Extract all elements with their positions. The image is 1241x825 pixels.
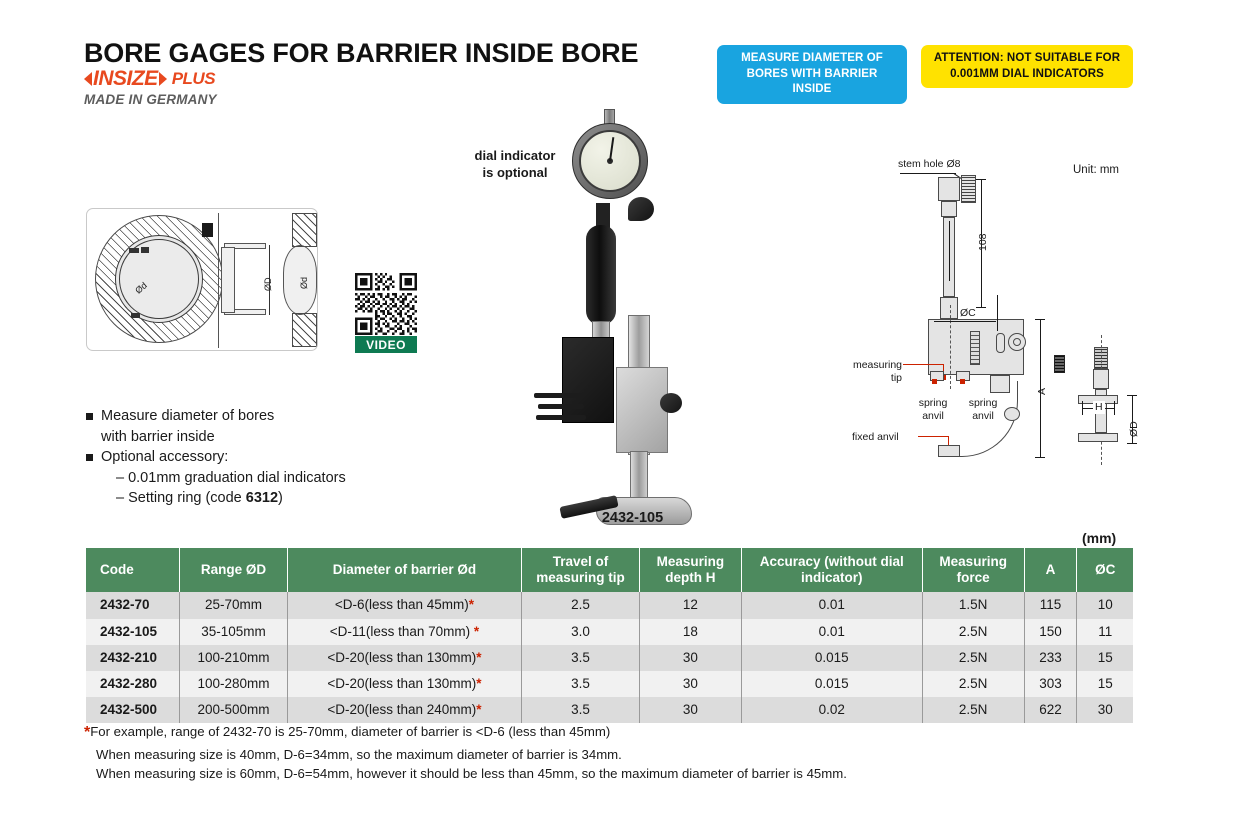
dim-od-tick-bottom bbox=[1127, 443, 1137, 444]
cell-force: 2.5N bbox=[922, 697, 1024, 723]
cell-code: 2432-105 bbox=[86, 619, 180, 645]
schematic-label-od-right: Ød bbox=[299, 277, 309, 289]
technical-drawing: stem hole Ø8 108 ØC measuring tip bbox=[850, 155, 1195, 475]
dim-h-tick-right bbox=[1114, 401, 1115, 415]
dial-face bbox=[579, 130, 641, 192]
dark-marker bbox=[202, 223, 213, 237]
asterisk-icon: * bbox=[476, 676, 481, 691]
col-a: A bbox=[1024, 548, 1077, 592]
gage-prongs bbox=[534, 391, 586, 425]
cell-barrier-text: <D-6(less than 45mm) bbox=[335, 597, 469, 612]
datasheet-page: BORE GAGES FOR BARRIER INSIDE BORE INSIZ… bbox=[0, 0, 1241, 825]
cell-barrier: <D-20(less than 130mm)* bbox=[287, 671, 521, 697]
col-accuracy: Accuracy (without dial indicator) bbox=[741, 548, 922, 592]
cell-a: 115 bbox=[1024, 592, 1077, 618]
dim-h-tick-left bbox=[1082, 401, 1083, 415]
cell-accuracy: 0.015 bbox=[741, 645, 922, 671]
stem-collar bbox=[941, 201, 957, 217]
cell-travel: 2.5 bbox=[521, 592, 639, 618]
cell-force: 2.5N bbox=[922, 671, 1024, 697]
cell-a: 622 bbox=[1024, 697, 1077, 723]
cell-accuracy: 0.01 bbox=[741, 592, 922, 618]
dial-indicator bbox=[572, 123, 648, 199]
dim-oc-label: ØC bbox=[960, 307, 976, 320]
arrow-left-icon bbox=[84, 72, 92, 86]
made-in-label: MADE IN GERMANY bbox=[84, 92, 217, 107]
bullet-text: Measure diameter of bores with barrier i… bbox=[101, 406, 274, 447]
stem-centerline bbox=[949, 221, 950, 281]
schematic-label-OD: ØD bbox=[263, 278, 273, 292]
asterisk-icon: * bbox=[474, 624, 479, 639]
cell-barrier-text: <D-20(less than 240mm) bbox=[327, 702, 476, 717]
cell-barrier-text: <D-11(less than 70mm) bbox=[330, 624, 470, 639]
bullet-line-1: Optional accessory: bbox=[101, 449, 228, 465]
arrow-right-icon bbox=[159, 72, 167, 86]
bullet-text: Optional accessory: – 0.01mm graduation … bbox=[101, 447, 346, 509]
col-code: Code bbox=[86, 548, 180, 592]
cell-code: 2432-500 bbox=[86, 697, 180, 723]
cell-barrier: <D-6(less than 45mm)* bbox=[287, 592, 521, 618]
bullet-sub-2: – Setting ring (code 6312) bbox=[101, 490, 283, 506]
cell-travel: 3.0 bbox=[521, 619, 639, 645]
dark-knurl-part bbox=[1054, 355, 1065, 373]
cell-range: 35-105mm bbox=[180, 619, 288, 645]
dim-h-label: H bbox=[1093, 401, 1105, 414]
tip-mark-2 bbox=[141, 247, 149, 253]
cell-oc: 10 bbox=[1077, 592, 1133, 618]
bullet-square-icon bbox=[86, 413, 93, 420]
footnote-line-1-text: For example, range of 2432-70 is 25-70mm… bbox=[90, 724, 610, 739]
cell-code: 2432-280 bbox=[86, 671, 180, 697]
cell-a: 150 bbox=[1024, 619, 1077, 645]
prong-3 bbox=[536, 415, 586, 420]
brand-name: INSIZE bbox=[93, 68, 158, 89]
tip-mark-3 bbox=[131, 313, 140, 318]
table-row: 2432-500 200-500mm <D-20(less than 240mm… bbox=[86, 697, 1133, 723]
col-force: Measuring force bbox=[922, 548, 1024, 592]
section-divider bbox=[218, 213, 219, 348]
side-view-arm-bottom bbox=[1078, 433, 1118, 442]
dim-oc-line bbox=[997, 295, 998, 331]
feature-list: Measure diameter of bores with barrier i… bbox=[86, 406, 466, 509]
table-head: Code Range ØD Diameter of barrier Ød Tra… bbox=[86, 548, 1133, 592]
cell-travel: 3.5 bbox=[521, 697, 639, 723]
cell-barrier-text: <D-20(less than 130mm) bbox=[327, 676, 476, 691]
dim-od-tick-top bbox=[1127, 395, 1137, 396]
stand-clamp-knob bbox=[660, 393, 682, 413]
cell-barrier-text: <D-20(less than 130mm) bbox=[327, 650, 476, 665]
setting-ring-code: 6312 bbox=[246, 490, 278, 506]
cell-code: 2432-70 bbox=[86, 592, 180, 618]
dim-108-label: 108 bbox=[977, 233, 990, 251]
asterisk-icon: * bbox=[476, 702, 481, 717]
footnote-line-2: When measuring size is 40mm, D-6=34mm, s… bbox=[84, 745, 1144, 765]
table-row: 2432-280 100-280mm <D-20(less than 130mm… bbox=[86, 671, 1133, 697]
cell-oc: 11 bbox=[1077, 619, 1133, 645]
dim-a-tick-bottom bbox=[1035, 457, 1045, 458]
cell-code: 2432-210 bbox=[86, 645, 180, 671]
cell-accuracy: 0.01 bbox=[741, 619, 922, 645]
cell-range: 200-500mm bbox=[180, 697, 288, 723]
bullet-line-1: Measure diameter of bores bbox=[101, 408, 274, 424]
col-oc: ØC bbox=[1077, 548, 1133, 592]
badge-measure-diameter: MEASURE DIAMETER OF BORES WITH BARRIER I… bbox=[717, 45, 907, 104]
col-barrier: Diameter of barrier Ød bbox=[287, 548, 521, 592]
dim-od-label: ØD bbox=[1128, 421, 1141, 437]
body-wheel-hub bbox=[1013, 338, 1021, 346]
cell-oc: 15 bbox=[1077, 645, 1133, 671]
cell-accuracy: 0.02 bbox=[741, 697, 922, 723]
side-view-collar bbox=[1093, 369, 1109, 389]
cell-accuracy: 0.015 bbox=[741, 671, 922, 697]
hatch-block-tr bbox=[292, 213, 317, 247]
qr-code[interactable] bbox=[355, 273, 417, 335]
leader-fixed-anvil bbox=[918, 436, 948, 437]
dim-a-label: A bbox=[1036, 388, 1049, 395]
cell-barrier: <D-11(less than 70mm) * bbox=[287, 619, 521, 645]
leader-measuring-tip bbox=[903, 364, 943, 365]
prong-2 bbox=[538, 404, 584, 409]
knurled-screw bbox=[961, 175, 976, 203]
footnote-line-1: *For example, range of 2432-70 is 25-70m… bbox=[84, 721, 1144, 745]
table-body: 2432-70 25-70mm <D-6(less than 45mm)* 2.… bbox=[86, 592, 1133, 723]
product-code: 2432-105 bbox=[560, 510, 705, 526]
label-spring-anvil-left: spring anvil bbox=[908, 397, 958, 423]
cell-a: 303 bbox=[1024, 671, 1077, 697]
bullet-sub-1: – 0.01mm graduation dial indicators bbox=[101, 470, 346, 486]
body-scale bbox=[970, 331, 980, 365]
label-measuring-tip: measuring tip bbox=[850, 359, 902, 385]
asterisk-icon: * bbox=[469, 597, 474, 612]
leader-stem-hole bbox=[900, 173, 956, 174]
cell-oc: 15 bbox=[1077, 671, 1133, 697]
bullet-sub-2-prefix: – Setting ring (code bbox=[116, 490, 246, 506]
cell-depth: 30 bbox=[639, 671, 741, 697]
fixed-anvil-block bbox=[938, 445, 960, 457]
stand-clamp bbox=[616, 367, 668, 453]
table-row: 2432-105 35-105mm <D-11(less than 70mm) … bbox=[86, 619, 1133, 645]
dial-hub bbox=[607, 158, 613, 164]
cell-travel: 3.5 bbox=[521, 671, 639, 697]
bullet-line-2: with barrier inside bbox=[101, 429, 215, 445]
cell-force: 2.5N bbox=[922, 619, 1024, 645]
cell-oc: 30 bbox=[1077, 697, 1133, 723]
asterisk-icon: * bbox=[476, 650, 481, 665]
col-travel: Travel of measuring tip bbox=[521, 548, 639, 592]
stem-lower-collar bbox=[940, 297, 958, 319]
stem-head bbox=[938, 177, 960, 201]
footnote-line-3: When measuring size is 60mm, D-6=54mm, h… bbox=[84, 764, 1144, 784]
cell-force: 2.5N bbox=[922, 645, 1024, 671]
label-fixed-anvil: fixed anvil bbox=[852, 431, 899, 444]
cell-depth: 30 bbox=[639, 645, 741, 671]
spring-anvil-left-marker bbox=[932, 379, 937, 384]
bullet-square-icon bbox=[86, 454, 93, 461]
cell-a: 233 bbox=[1024, 645, 1077, 671]
cell-range: 25-70mm bbox=[180, 592, 288, 618]
qr-code-icon bbox=[355, 273, 417, 335]
badge-attention: ATTENTION: NOT SUITABLE FOR 0.001MM DIAL… bbox=[921, 45, 1133, 88]
cell-barrier: <D-20(less than 130mm)* bbox=[287, 645, 521, 671]
dim-108-tick-top bbox=[976, 179, 986, 180]
dim-a-tick-top bbox=[1035, 319, 1045, 320]
arm-pivot bbox=[1004, 407, 1020, 421]
body-centerline bbox=[950, 305, 951, 389]
label-stem-hole: stem hole Ø8 bbox=[898, 158, 960, 171]
cell-depth: 18 bbox=[639, 619, 741, 645]
gage-body-section bbox=[221, 247, 235, 313]
cell-depth: 30 bbox=[639, 697, 741, 723]
cell-range: 100-210mm bbox=[180, 645, 288, 671]
cell-range: 100-280mm bbox=[180, 671, 288, 697]
bullet-sub-2-suffix: ) bbox=[278, 490, 283, 506]
hatch-block-br bbox=[292, 313, 317, 347]
cell-force: 1.5N bbox=[922, 592, 1024, 618]
specification-table: Code Range ØD Diameter of barrier Ød Tra… bbox=[86, 548, 1133, 723]
table-row: 2432-210 100-210mm <D-20(less than 130mm… bbox=[86, 645, 1133, 671]
footnote: *For example, range of 2432-70 is 25-70m… bbox=[84, 721, 1144, 784]
gage-knob bbox=[628, 197, 654, 221]
table-unit-note: (mm) bbox=[1082, 530, 1116, 546]
table-header-row: Code Range ØD Diameter of barrier Ød Tra… bbox=[86, 548, 1133, 592]
page-title: BORE GAGES FOR BARRIER INSIDE BORE bbox=[84, 38, 638, 69]
arm-joint bbox=[990, 375, 1010, 393]
list-item: Measure diameter of bores with barrier i… bbox=[86, 406, 466, 447]
col-range: Range ØD bbox=[180, 548, 288, 592]
list-item: Optional accessory: – 0.01mm graduation … bbox=[86, 447, 466, 509]
prong-1 bbox=[534, 393, 582, 398]
brand-suffix: PLUS bbox=[172, 70, 215, 87]
product-photo bbox=[500, 105, 760, 500]
gage-grip bbox=[586, 225, 616, 325]
schematic-diagram: Ød ØD Ød bbox=[86, 208, 318, 351]
col-depth: Measuring depth H bbox=[639, 548, 741, 592]
cell-depth: 12 bbox=[639, 592, 741, 618]
body-pin bbox=[996, 333, 1005, 353]
table-row: 2432-70 25-70mm <D-6(less than 45mm)* 2.… bbox=[86, 592, 1133, 618]
dim-108-tick-bottom bbox=[976, 307, 986, 308]
dim-oc-arrow bbox=[934, 321, 996, 322]
tip-mark-1 bbox=[129, 248, 139, 253]
video-badge[interactable]: VIDEO bbox=[355, 336, 417, 353]
cell-barrier: <D-20(less than 240mm)* bbox=[287, 697, 521, 723]
cell-travel: 3.5 bbox=[521, 645, 639, 671]
brand-logo: INSIZE PLUS MADE IN GERMANY bbox=[84, 68, 217, 107]
